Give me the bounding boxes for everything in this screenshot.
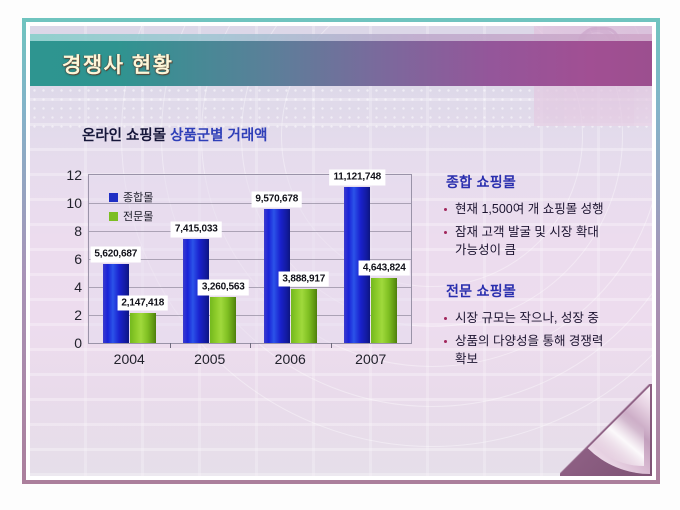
page-title: 경쟁사 현황 xyxy=(62,49,173,79)
y-axis-tick-label: 0 xyxy=(74,335,82,351)
insights-panel: 종합 쇼핑몰현재 1,500여 개 쇼핑몰 성행잠재 고객 발굴 및 시장 확대… xyxy=(442,172,652,391)
chart-title: 온라인 쇼핑몰 상품군별 거래액 xyxy=(82,124,268,145)
chart-title-part2: 상품군별 거래액 xyxy=(170,128,267,144)
x-axis-tick-label: 2005 xyxy=(194,351,225,367)
insight-group: 종합 쇼핑몰현재 1,500여 개 쇼핑몰 성행잠재 고객 발굴 및 시장 확대… xyxy=(442,172,652,259)
insight-bullet-list: 시장 규모는 작으나, 성장 중상품의 다양성을 통해 경쟁력확보 xyxy=(442,310,652,368)
x-axis-tick-mark xyxy=(170,343,171,348)
chart-legend: 종합몰 전문몰 xyxy=(109,189,153,227)
x-axis-tick-label: 2006 xyxy=(275,351,306,367)
x-axis-tick-label: 2004 xyxy=(114,351,145,367)
slide-title-bar: 경쟁사 현황 xyxy=(30,34,652,92)
y-axis-tick-label: 10 xyxy=(66,195,82,211)
slide-content-area: 경쟁사 현황 온라인 쇼핑몰 상품군별 거래액 종합몰 전문몰 xyxy=(30,26,652,476)
insight-bullet-continuation: 확보 xyxy=(455,351,652,369)
insight-bullet-item: 잠재 고객 발굴 및 시장 확대가능성이 큼 xyxy=(442,224,652,260)
insight-group-heading: 종합 쇼핑몰 xyxy=(446,172,652,192)
bar-value-label: 3,888,917 xyxy=(278,271,329,287)
chart-plot-area: 종합몰 전문몰 02468101220045,620,6872,147,4182… xyxy=(88,174,412,344)
bar-value-label: 11,121,748 xyxy=(330,170,386,186)
page-curl-decoration xyxy=(560,384,652,476)
x-axis-tick-label: 2007 xyxy=(355,351,386,367)
chart-bar xyxy=(291,289,317,343)
bar-value-label: 5,620,687 xyxy=(90,247,141,263)
insight-bullet-item: 현재 1,500여 개 쇼핑몰 성행 xyxy=(442,201,652,219)
bar-value-label: 4,643,824 xyxy=(359,260,410,276)
chart-title-part1: 온라인 쇼핑몰 xyxy=(82,128,170,144)
y-axis-tick-label: 6 xyxy=(74,251,82,267)
insight-bullet-list: 현재 1,500여 개 쇼핑몰 성행잠재 고객 발굴 및 시장 확대가능성이 큼 xyxy=(442,201,652,259)
y-axis-tick-label: 12 xyxy=(66,167,82,183)
title-bar-gradient: 경쟁사 현황 xyxy=(30,41,652,86)
legend-swatch-blue-icon xyxy=(109,193,118,202)
x-axis-tick-mark xyxy=(331,343,332,348)
bar-value-label: 2,147,418 xyxy=(117,295,168,311)
x-axis-tick-mark xyxy=(250,343,251,348)
y-axis-tick-label: 8 xyxy=(74,223,82,239)
legend-item-jeonmunmall: 전문몰 xyxy=(109,208,153,224)
insight-bullet-item: 시장 규모는 작으나, 성장 중 xyxy=(442,310,652,328)
legend-swatch-green-icon xyxy=(109,212,118,221)
chart-bar xyxy=(371,278,397,343)
y-axis-tick-label: 4 xyxy=(74,279,82,295)
bar-value-label: 3,260,563 xyxy=(198,280,249,296)
title-bar-accent-strip xyxy=(30,34,652,41)
insight-bullet-item: 상품의 다양성을 통해 경쟁력확보 xyxy=(442,333,652,369)
chart-bar xyxy=(210,297,236,343)
bar-value-label: 7,415,033 xyxy=(171,222,222,238)
insight-group: 전문 쇼핑몰시장 규모는 작으나, 성장 중상품의 다양성을 통해 경쟁력확보 xyxy=(442,281,652,368)
y-axis-tick-label: 2 xyxy=(74,307,82,323)
bar-value-label: 9,570,678 xyxy=(251,192,302,208)
bar-chart: 종합몰 전문몰 02468101220045,620,6872,147,4182… xyxy=(40,154,430,384)
legend-label-1: 전문몰 xyxy=(123,208,153,224)
insight-bullet-continuation: 가능성이 큼 xyxy=(455,242,652,260)
insight-group-heading: 전문 쇼핑몰 xyxy=(446,281,652,301)
chart-bar xyxy=(130,313,156,343)
slide-canvas: 경쟁사 현황 온라인 쇼핑몰 상품군별 거래액 종합몰 전문몰 xyxy=(0,0,680,510)
